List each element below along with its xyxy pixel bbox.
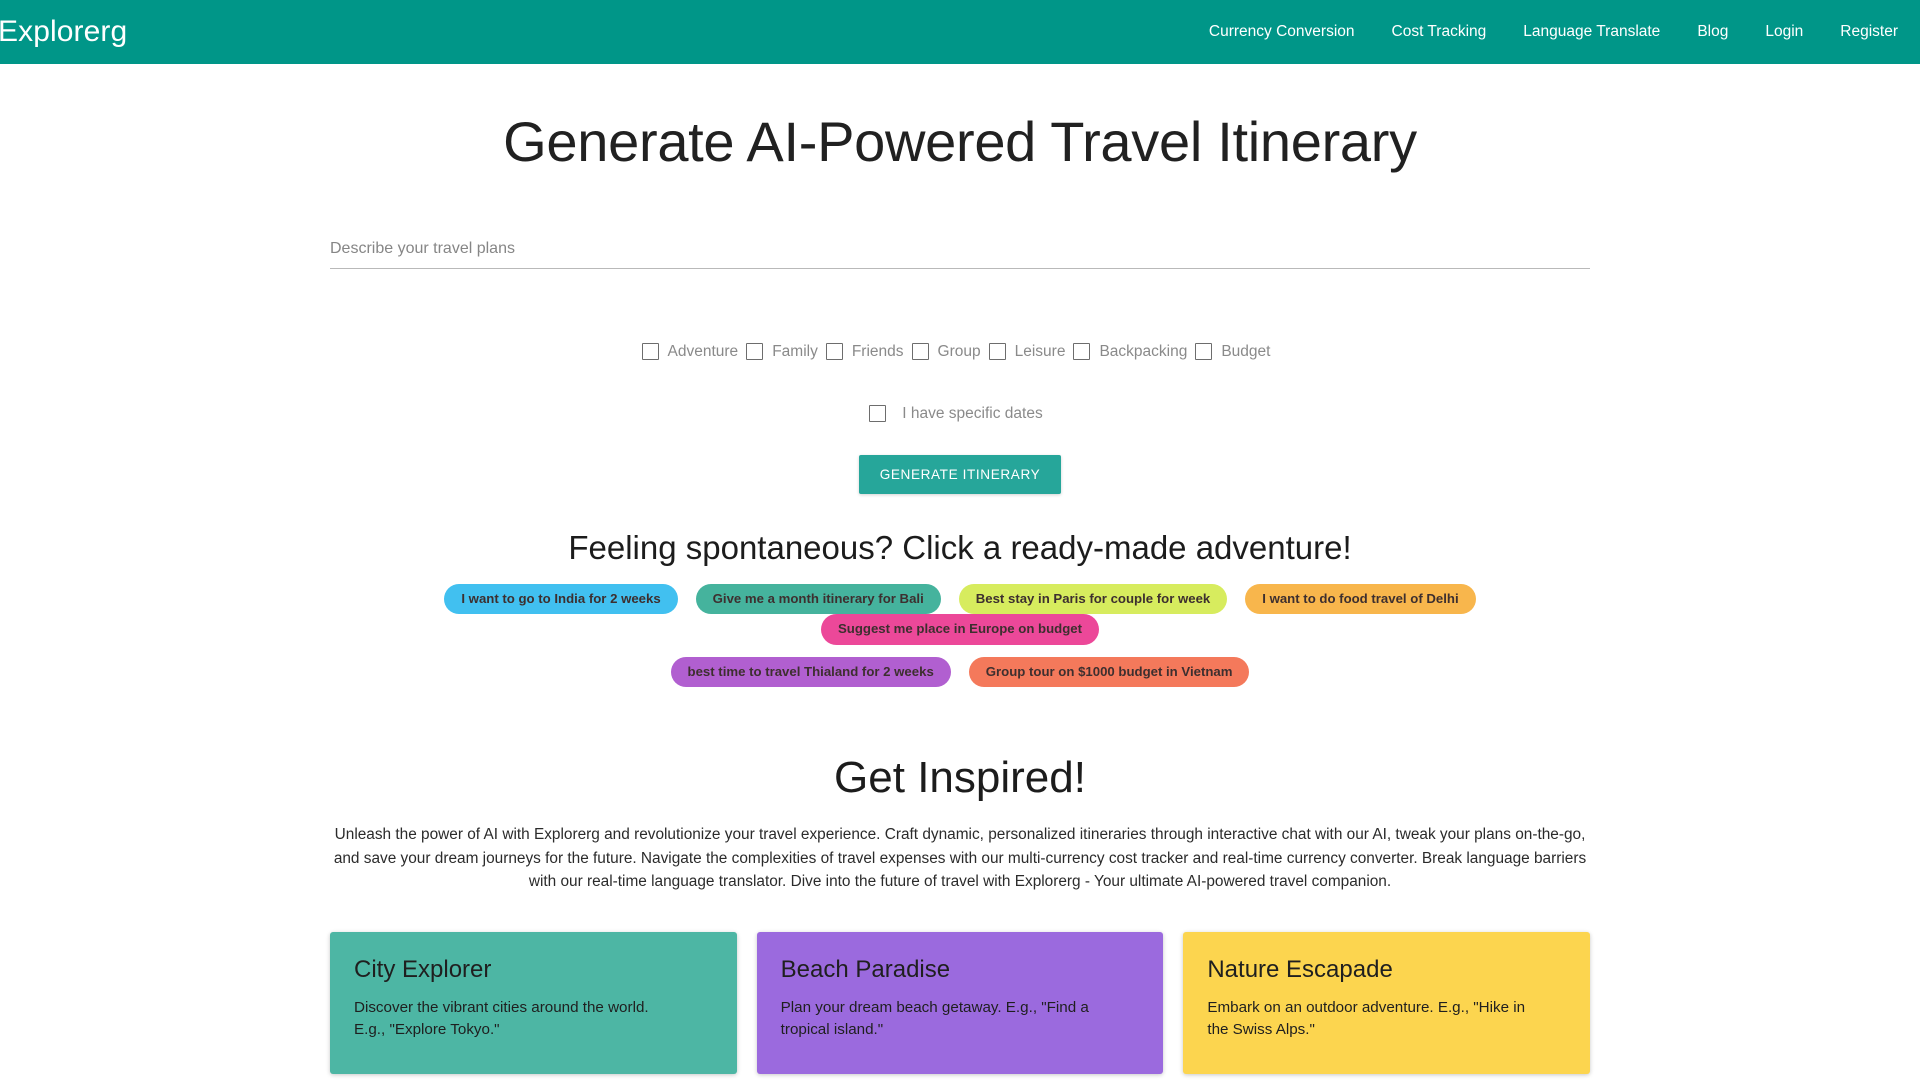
checkbox-icon-budget[interactable] [1195,343,1212,360]
checkbox-icon-group[interactable] [912,343,929,360]
travel-style-label-adventure: Adventure [659,343,747,361]
suggestion-pill-vietnam[interactable]: Group tour on $1000 budget in Vietnam [969,657,1250,688]
travel-style-label-friends: Friends [843,343,912,361]
top-navigation-bar: Explorerg Currency Conversion Cost Track… [0,0,1920,64]
suggestion-pill-europe[interactable]: Suggest me place in Europe on budget [821,614,1099,645]
travel-style-label-family: Family [763,343,826,361]
nav-link-register[interactable]: Register [1840,23,1898,41]
checkbox-icon-family[interactable] [746,343,763,360]
specific-dates-label: I have specific dates [886,405,1050,423]
travel-plans-input-wrapper [330,236,1590,269]
page-title: Generate AI-Powered Travel Itinerary [330,111,1590,173]
brand-logo[interactable]: Explorerg [0,17,127,47]
suggestion-pill-bali[interactable]: Give me a month itinerary for Bali [696,584,941,615]
travel-style-option-family[interactable]: Family [746,343,826,361]
page-content: Generate AI-Powered Travel Itinerary Adv… [330,111,1590,1080]
inspiration-card-nature-escapade[interactable]: Nature Escapade Embark on an outdoor adv… [1183,932,1590,1074]
nav-link-cost-tracking[interactable]: Cost Tracking [1392,23,1487,41]
specific-dates-option[interactable]: I have specific dates [869,405,1050,423]
travel-style-option-group[interactable]: Group [912,343,989,361]
checkbox-icon-specific-dates[interactable] [869,405,886,422]
card-text-nature-escapade: Embark on an outdoor adventure. E.g., "H… [1207,997,1537,1041]
specific-dates-row: I have specific dates [330,405,1590,423]
suggestion-pill-delhi[interactable]: I want to do food travel of Delhi [1245,584,1475,615]
spontaneous-heading: Feeling spontaneous? Click a ready-made … [330,529,1590,567]
card-title-nature-escapade: Nature Escapade [1207,956,1566,985]
nav-link-blog[interactable]: Blog [1697,23,1728,41]
travel-plans-input[interactable] [330,236,1590,269]
get-inspired-paragraph: Unleash the power of AI with Explorerg a… [333,823,1588,893]
travel-style-option-backpacking[interactable]: Backpacking [1073,343,1195,361]
checkbox-icon-adventure[interactable] [642,343,659,360]
nav-link-currency-conversion[interactable]: Currency Conversion [1209,23,1355,41]
suggestion-pill-paris[interactable]: Best stay in Paris for couple for week [959,584,1228,615]
suggestion-pill-row-2: best time to travel Thialand for 2 weeks… [330,657,1590,688]
card-title-beach-paradise: Beach Paradise [781,956,1140,985]
travel-style-option-budget[interactable]: Budget [1195,343,1278,361]
suggestion-pill-india[interactable]: I want to go to India for 2 weeks [444,584,677,615]
card-title-city-explorer: City Explorer [354,956,713,985]
inspiration-cards: City Explorer Discover the vibrant citie… [330,932,1590,1074]
checkbox-icon-backpacking[interactable] [1073,343,1090,360]
travel-style-label-leisure: Leisure [1006,343,1074,361]
travel-style-label-backpacking: Backpacking [1090,343,1195,361]
card-text-city-explorer: Discover the vibrant cities around the w… [354,997,684,1041]
nav-links: Currency Conversion Cost Tracking Langua… [1209,23,1920,41]
travel-style-option-friends[interactable]: Friends [826,343,912,361]
card-text-beach-paradise: Plan your dream beach getaway. E.g., "Fi… [781,997,1111,1041]
checkbox-icon-leisure[interactable] [989,343,1006,360]
generate-itinerary-button[interactable]: GENERATE ITINERARY [859,455,1062,494]
travel-style-label-group: Group [929,343,989,361]
suggestion-pill-row-1: I want to go to India for 2 weeks Give m… [330,584,1590,645]
nav-link-language-translate[interactable]: Language Translate [1523,23,1660,41]
generate-button-row: GENERATE ITINERARY [330,455,1590,494]
inspiration-card-beach-paradise[interactable]: Beach Paradise Plan your dream beach get… [757,932,1164,1074]
travel-style-checkbox-row: Adventure Family Friends Group Leisure B… [330,343,1590,361]
inspiration-card-city-explorer[interactable]: City Explorer Discover the vibrant citie… [330,932,737,1074]
suggestion-pill-thailand[interactable]: best time to travel Thialand for 2 weeks [671,657,951,688]
checkbox-icon-friends[interactable] [826,343,843,360]
travel-style-option-adventure[interactable]: Adventure [642,343,747,361]
travel-style-label-budget: Budget [1212,343,1278,361]
get-inspired-heading: Get Inspired! [330,753,1590,803]
nav-link-login[interactable]: Login [1765,23,1803,41]
travel-style-option-leisure[interactable]: Leisure [989,343,1074,361]
